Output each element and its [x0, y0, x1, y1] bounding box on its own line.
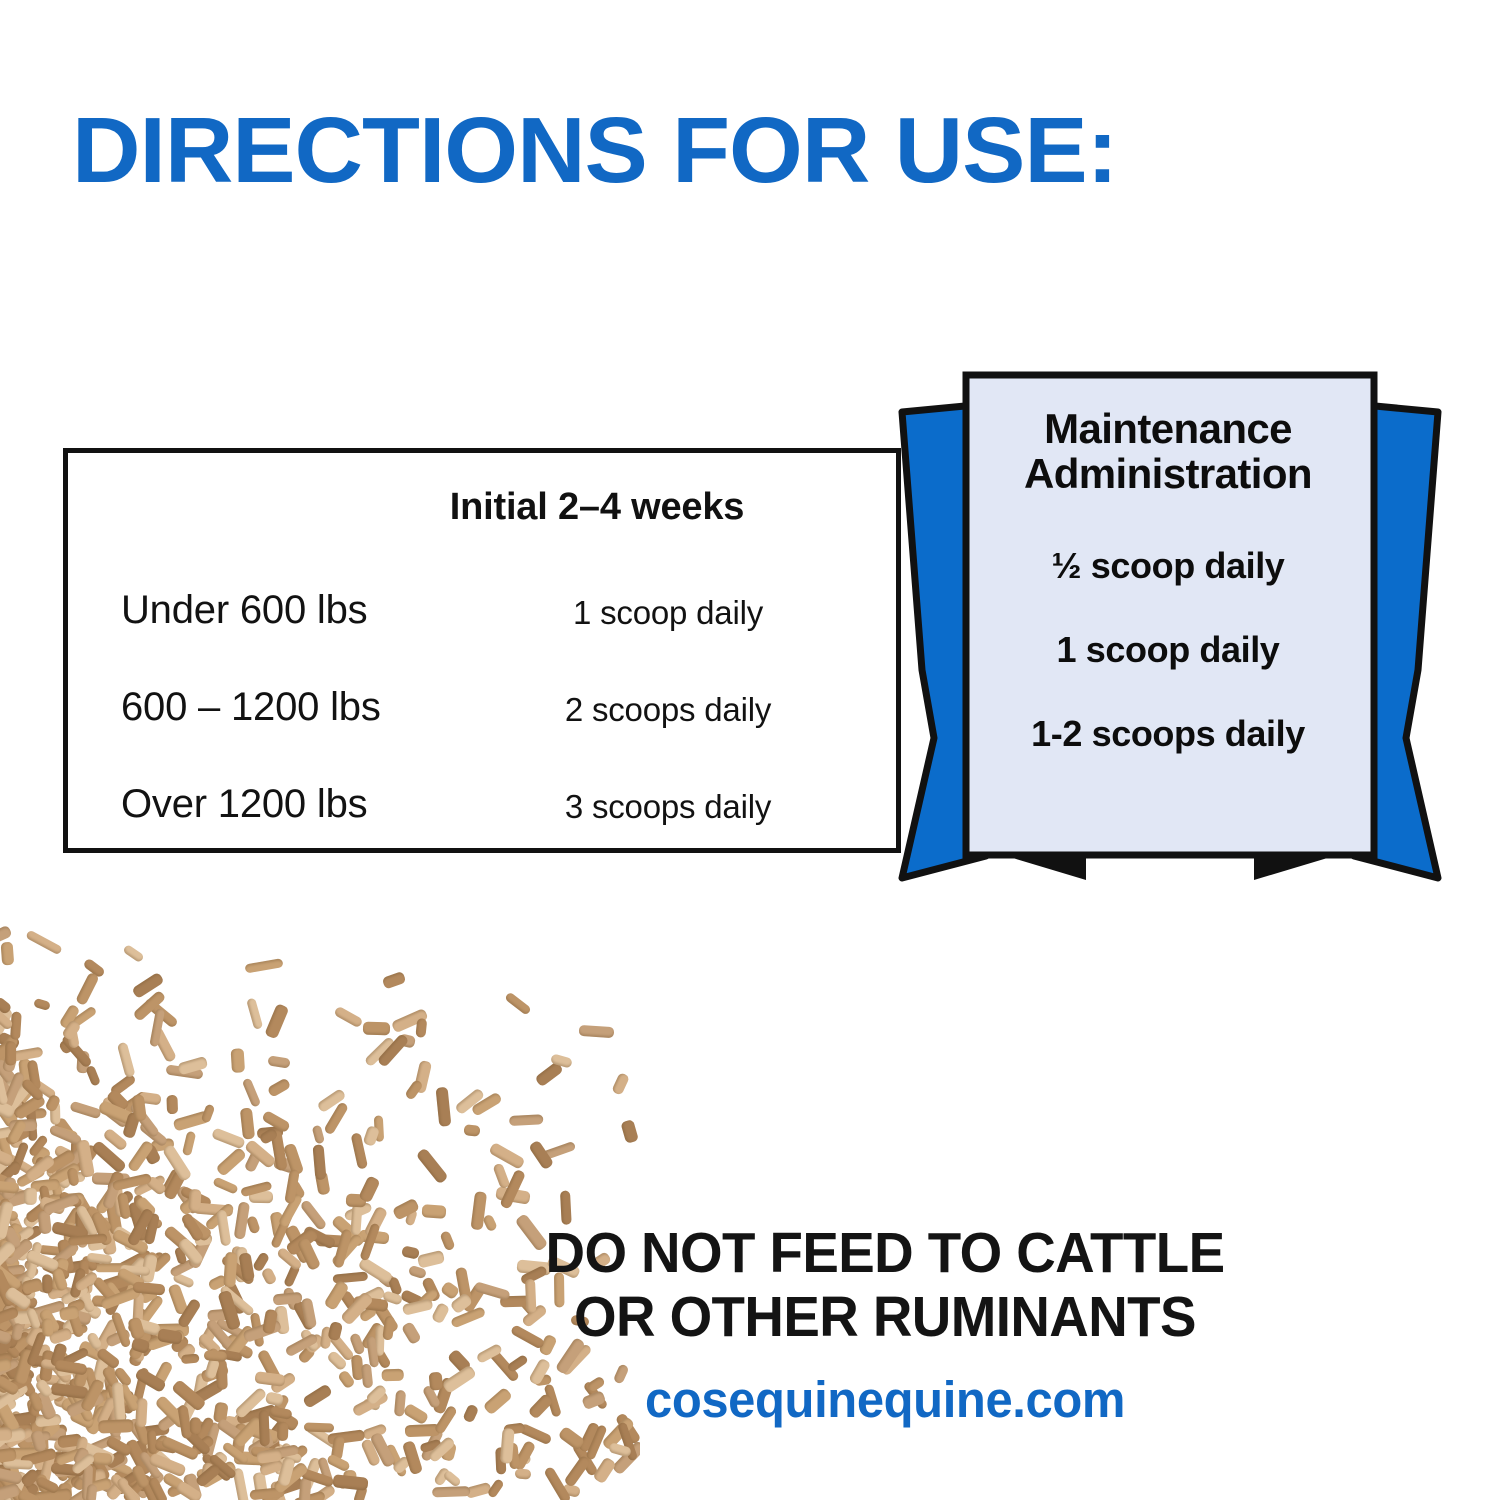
- pellet: [515, 1468, 532, 1479]
- pellet: [244, 1139, 277, 1169]
- pellet: [166, 1064, 204, 1079]
- pellet: [160, 1435, 200, 1461]
- pellet: [0, 1464, 11, 1478]
- pellet: [101, 1095, 128, 1116]
- pellet: [608, 1442, 632, 1458]
- pellet: [109, 1472, 142, 1500]
- pellet: [75, 972, 100, 1006]
- pellet: [20, 1460, 56, 1489]
- pellet: [1, 1079, 34, 1116]
- pellet: [512, 1440, 536, 1472]
- pellet: [26, 1060, 41, 1091]
- pellet: [2, 1477, 28, 1500]
- pellet: [0, 1445, 13, 1469]
- pellet: [145, 1175, 168, 1196]
- pellet: [250, 1444, 274, 1472]
- pellet: [194, 1462, 221, 1487]
- pellet: [175, 1480, 203, 1500]
- pellet: [112, 1173, 152, 1191]
- pellet: [273, 1462, 310, 1495]
- pellet: [70, 1191, 95, 1221]
- pellet: [35, 1492, 57, 1500]
- pellet: [0, 1470, 17, 1500]
- pellet: [282, 1142, 304, 1175]
- pellet: [611, 1071, 630, 1095]
- pellet: [336, 1468, 354, 1490]
- pellet: [37, 1434, 49, 1454]
- pellet: [50, 1155, 91, 1179]
- pellet: [2, 1470, 29, 1500]
- pellet: [141, 1143, 161, 1166]
- pellet: [122, 1111, 141, 1138]
- pellet: [4, 1460, 22, 1489]
- pellet: [149, 1008, 165, 1047]
- pellet: [571, 1441, 598, 1477]
- pellet: [24, 1474, 59, 1495]
- pellet: [3, 1152, 40, 1179]
- pellet: [558, 1425, 586, 1450]
- pellet: [44, 1094, 61, 1113]
- pellet: [72, 1436, 88, 1465]
- pellet: [267, 1078, 292, 1099]
- weight-cell: 600 – 1200 lbs: [121, 685, 381, 730]
- pellet: [2, 1481, 19, 1493]
- pellet: [420, 1427, 444, 1462]
- pellet: [500, 1169, 526, 1210]
- pellet: [0, 1006, 13, 1036]
- pellet: [471, 1092, 503, 1117]
- pellet: [0, 1178, 15, 1200]
- pellet: [113, 1474, 128, 1495]
- pellet: [30, 1146, 51, 1170]
- pellet: [381, 970, 406, 989]
- pellet: [8, 1046, 44, 1062]
- page-title: DIRECTIONS FOR USE:: [72, 104, 1117, 197]
- weight-cell: Over 1200 lbs: [121, 782, 367, 827]
- pellet: [550, 1053, 573, 1068]
- pellet: [360, 1438, 381, 1467]
- pellet: [211, 1127, 246, 1149]
- pellet: [117, 1042, 135, 1078]
- pellet: [106, 1101, 119, 1119]
- pellet: [244, 958, 283, 974]
- pellet: [416, 1018, 428, 1038]
- pellet: [65, 1445, 100, 1483]
- pellet: [122, 1473, 152, 1500]
- pellet: [1, 1176, 17, 1200]
- pellet: [454, 1087, 485, 1115]
- pellet: [50, 1456, 81, 1483]
- pellet: [326, 1453, 351, 1472]
- pellet: [9, 1099, 29, 1120]
- pellet: [53, 1438, 91, 1458]
- pellet: [257, 1126, 284, 1140]
- pellet: [261, 1109, 291, 1133]
- pellet: [115, 1090, 151, 1120]
- pellet: [0, 1445, 5, 1468]
- pellet: [139, 1475, 159, 1492]
- pellet: [38, 1450, 57, 1491]
- pellet: [0, 1202, 10, 1220]
- maintenance-dose-cell: ½ scoop daily: [966, 545, 1370, 587]
- pellet: [0, 1182, 16, 1198]
- pellet: [343, 1470, 357, 1489]
- pellet: [500, 1428, 514, 1464]
- pellet: [13, 1093, 46, 1120]
- pellet: [0, 1146, 8, 1180]
- pellet: [98, 1099, 134, 1124]
- pellet: [31, 1156, 47, 1179]
- pellet: [95, 1178, 125, 1215]
- pellet: [215, 1147, 247, 1177]
- pellet: [256, 1449, 282, 1464]
- pellet: [151, 1138, 175, 1152]
- pellet: [543, 1466, 572, 1500]
- pellet: [3, 1459, 33, 1469]
- pellet: [0, 1483, 20, 1500]
- pellet: [188, 1189, 201, 1211]
- pellet: [248, 1190, 272, 1202]
- pellet: [57, 1035, 78, 1054]
- pellet: [57, 1434, 82, 1449]
- pellet: [495, 1447, 506, 1475]
- pellet: [13, 1483, 35, 1500]
- pellet: [542, 1141, 576, 1160]
- pellet: [72, 1446, 90, 1466]
- pellet: [333, 1475, 369, 1491]
- pellet: [0, 1189, 34, 1210]
- initial-dose-cell: 1 scoop daily: [488, 594, 848, 632]
- pellet: [71, 1453, 96, 1476]
- pellet: [68, 1466, 100, 1490]
- pellet: [275, 1475, 303, 1495]
- pellet: [140, 1478, 164, 1500]
- pellet: [44, 1450, 70, 1482]
- pellet: [24, 1428, 40, 1457]
- pellet: [200, 1103, 215, 1123]
- pellet: [300, 1456, 323, 1492]
- pellet: [0, 1127, 19, 1153]
- pellet: [105, 1435, 133, 1457]
- pellet: [39, 1196, 66, 1215]
- pellet: [93, 1452, 113, 1465]
- pellet: [0, 1443, 11, 1466]
- pellet: [495, 1187, 530, 1205]
- pellet: [0, 1475, 14, 1489]
- pellet: [25, 1192, 61, 1224]
- pellet: [427, 1436, 456, 1464]
- pellet: [0, 1447, 17, 1462]
- pellet: [369, 1431, 396, 1468]
- pellet: [127, 1139, 155, 1172]
- pellet: [66, 1167, 79, 1187]
- pellet: [261, 1488, 283, 1500]
- pellet: [195, 1467, 214, 1485]
- pellet: [7, 1487, 26, 1499]
- pellet: [259, 1429, 275, 1449]
- pellet: [251, 1434, 289, 1461]
- pellet: [143, 997, 179, 1029]
- pellet: [166, 1481, 190, 1499]
- pellet: [162, 1143, 193, 1182]
- pellet: [398, 1033, 417, 1048]
- pellet: [91, 1140, 127, 1174]
- pellet: [9, 1119, 38, 1132]
- ribbon-heading: Maintenance Administration: [966, 407, 1370, 497]
- pellet: [52, 1117, 75, 1143]
- pellet: [50, 1101, 60, 1124]
- pellet: [183, 1472, 203, 1500]
- pellet: [66, 1025, 80, 1048]
- pellet: [45, 1192, 85, 1208]
- pellet: [35, 1475, 60, 1494]
- pellet: [98, 1101, 130, 1129]
- pellet: [151, 1026, 177, 1063]
- pellet: [315, 1170, 331, 1195]
- pellet: [0, 1450, 11, 1469]
- pellet: [391, 1008, 428, 1033]
- pellet: [285, 1169, 300, 1205]
- pellet: [317, 1088, 347, 1113]
- pellet: [334, 1005, 364, 1028]
- pellet: [265, 1003, 290, 1039]
- ribbon-text-block: Maintenance Administration ½ scoop daily…: [966, 375, 1370, 855]
- pellet: [8, 1448, 48, 1459]
- pellet: [19, 1467, 41, 1488]
- pellet: [385, 1443, 408, 1478]
- pellet: [76, 1051, 89, 1074]
- pellet: [43, 1148, 76, 1174]
- pellet: [132, 1174, 166, 1197]
- pellet: [199, 1461, 238, 1490]
- pellet: [24, 1430, 51, 1442]
- pellet: [233, 1467, 250, 1500]
- pellet: [27, 1134, 48, 1158]
- pellet: [272, 1445, 302, 1465]
- pellet: [175, 1185, 201, 1216]
- pellet: [244, 1147, 264, 1173]
- pellet: [0, 1159, 22, 1183]
- pellet: [465, 1482, 492, 1499]
- pellet: [585, 1424, 608, 1461]
- pellet: [6, 1451, 35, 1470]
- pellet: [0, 1171, 10, 1187]
- pellet: [0, 1095, 17, 1120]
- pellet: [54, 1474, 80, 1498]
- pellet: [107, 1170, 126, 1194]
- pellet: [37, 1179, 68, 1206]
- pellet: [20, 1481, 41, 1500]
- pellet: [53, 1125, 79, 1141]
- pellet: [415, 1148, 448, 1185]
- weight-cell: Under 600 lbs: [121, 588, 367, 633]
- pellet: [30, 1179, 60, 1193]
- ribbon-heading-line-2: Administration: [966, 452, 1370, 497]
- pellet: [26, 1101, 38, 1141]
- pellet: [273, 1155, 297, 1174]
- pellet: [53, 1172, 86, 1185]
- table-row: 600 – 1200 lbs 2 scoops daily: [68, 685, 896, 737]
- pellet: [48, 1162, 82, 1187]
- pellet: [0, 1183, 9, 1208]
- pellet: [277, 1457, 296, 1487]
- pellet: [82, 1464, 93, 1500]
- pellet: [0, 1039, 17, 1063]
- pellet: [80, 1144, 99, 1165]
- pellet: [190, 1434, 215, 1456]
- pellet: [48, 1450, 65, 1470]
- dosage-table: Initial 2–4 weeks Under 600 lbs 1 scoop …: [63, 448, 901, 853]
- pellet: [486, 1478, 504, 1499]
- pellet: [281, 1443, 309, 1469]
- pellet: [327, 1430, 365, 1445]
- pellet: [441, 1441, 458, 1461]
- pellet: [374, 1115, 384, 1141]
- pellet: [200, 1462, 214, 1481]
- pellet: [0, 1031, 21, 1051]
- pellet: [253, 1433, 273, 1456]
- pellet: [75, 1140, 94, 1178]
- pellet: [16, 1165, 47, 1188]
- pellet: [392, 1198, 420, 1220]
- pellet: [2, 1471, 28, 1498]
- pellet: [234, 1451, 274, 1465]
- pellet: [0, 1179, 27, 1203]
- pellet: [259, 1458, 284, 1476]
- pellet: [363, 1125, 380, 1147]
- pellet: [0, 1034, 20, 1073]
- pellet: [322, 1101, 348, 1136]
- pellet: [193, 1203, 234, 1218]
- pellet: [0, 1430, 12, 1452]
- pellet: [0, 1074, 9, 1106]
- pellet: [363, 1021, 391, 1035]
- directions-for-use-panel: DIRECTIONS FOR USE: Initial 2–4 weeks Un…: [0, 0, 1500, 1500]
- pellet: [201, 1452, 233, 1483]
- pellet: [44, 1444, 78, 1472]
- pellet: [177, 1056, 208, 1075]
- pellet: [25, 1473, 48, 1491]
- pellet: [24, 1188, 37, 1205]
- pellet: [19, 1447, 57, 1467]
- pellet: [0, 1208, 19, 1221]
- pellet: [287, 1179, 306, 1201]
- pellet: [69, 1005, 97, 1028]
- pellet: [54, 1464, 77, 1478]
- pellet: [0, 1069, 41, 1098]
- pellet: [353, 1484, 368, 1500]
- pellet: [124, 1438, 152, 1476]
- pellet: [92, 1172, 131, 1186]
- pellet: [343, 1202, 373, 1222]
- pellet: [240, 1180, 272, 1197]
- pellet: [134, 1196, 157, 1220]
- pellet: [563, 1455, 591, 1488]
- pellet: [0, 1465, 23, 1486]
- pellet: [0, 1075, 24, 1111]
- pellet: [84, 1432, 122, 1455]
- maintenance-ribbon: Maintenance Administration ½ scoop daily…: [890, 370, 1450, 890]
- pellet: [148, 1453, 186, 1477]
- pellet: [163, 1169, 187, 1201]
- pellet: [350, 1132, 368, 1170]
- warning-line-2: OR OTHER RUMINANTS: [295, 1286, 1476, 1350]
- pellet: [508, 1443, 520, 1470]
- pellet: [82, 957, 106, 979]
- pellet: [0, 1482, 15, 1500]
- pellet: [258, 1128, 278, 1146]
- pellet: [180, 1425, 212, 1456]
- pellet: [0, 1125, 18, 1140]
- pellet: [261, 1444, 300, 1461]
- pellet: [117, 1192, 131, 1219]
- pellet: [317, 1457, 334, 1485]
- pellet: [5, 1451, 17, 1481]
- pellet: [402, 1440, 423, 1475]
- pellet: [134, 1469, 165, 1500]
- pellet: [178, 1194, 202, 1216]
- pellet: [313, 1144, 327, 1180]
- pellet: [131, 1094, 147, 1122]
- table-row: Over 1200 lbs 3 scoops daily: [68, 782, 896, 834]
- pellet: [0, 1427, 12, 1441]
- pellet: [213, 1177, 239, 1195]
- pellet: [267, 1056, 290, 1070]
- pellet: [147, 1476, 168, 1500]
- pellet: [44, 1452, 76, 1463]
- pellet: [246, 1429, 282, 1458]
- pellet: [50, 1179, 64, 1202]
- pellet: [167, 1094, 178, 1113]
- pellet: [25, 929, 63, 955]
- pellet: [405, 1079, 425, 1101]
- pellet: [45, 1165, 73, 1191]
- pellet: [0, 1448, 10, 1483]
- pellet: [72, 1462, 100, 1492]
- pellet: [358, 1176, 380, 1204]
- pellet: [24, 1108, 46, 1120]
- pellet: [155, 1440, 179, 1454]
- pellet: [77, 1467, 118, 1495]
- pellet: [312, 1124, 326, 1144]
- pellet: [70, 1140, 83, 1171]
- pellet: [592, 1456, 616, 1484]
- pellet: [58, 1483, 72, 1500]
- initial-period-label: Initial 2–4 weeks: [450, 486, 744, 529]
- pellet: [53, 1146, 87, 1182]
- table-row: Under 600 lbs 1 scoop daily: [68, 588, 896, 640]
- pellet: [528, 1139, 554, 1169]
- pellet: [136, 1433, 170, 1465]
- pellet: [69, 1101, 101, 1120]
- pellet: [131, 1464, 150, 1489]
- pellet: [292, 1491, 326, 1500]
- pellet: [0, 1467, 27, 1500]
- pellet: [67, 1485, 96, 1500]
- pellet: [23, 1154, 55, 1183]
- pellet: [161, 1168, 185, 1197]
- pellet: [162, 1472, 186, 1492]
- pellet: [122, 944, 144, 963]
- pellet: [89, 1454, 112, 1479]
- pellet: [33, 998, 51, 1011]
- pellet: [2, 1470, 23, 1488]
- pellet: [120, 1460, 155, 1487]
- website-link[interactable]: cosequinequine.com: [295, 1370, 1476, 1429]
- pellet: [221, 1441, 250, 1466]
- pellet: [436, 1086, 452, 1126]
- pellet: [0, 1479, 7, 1500]
